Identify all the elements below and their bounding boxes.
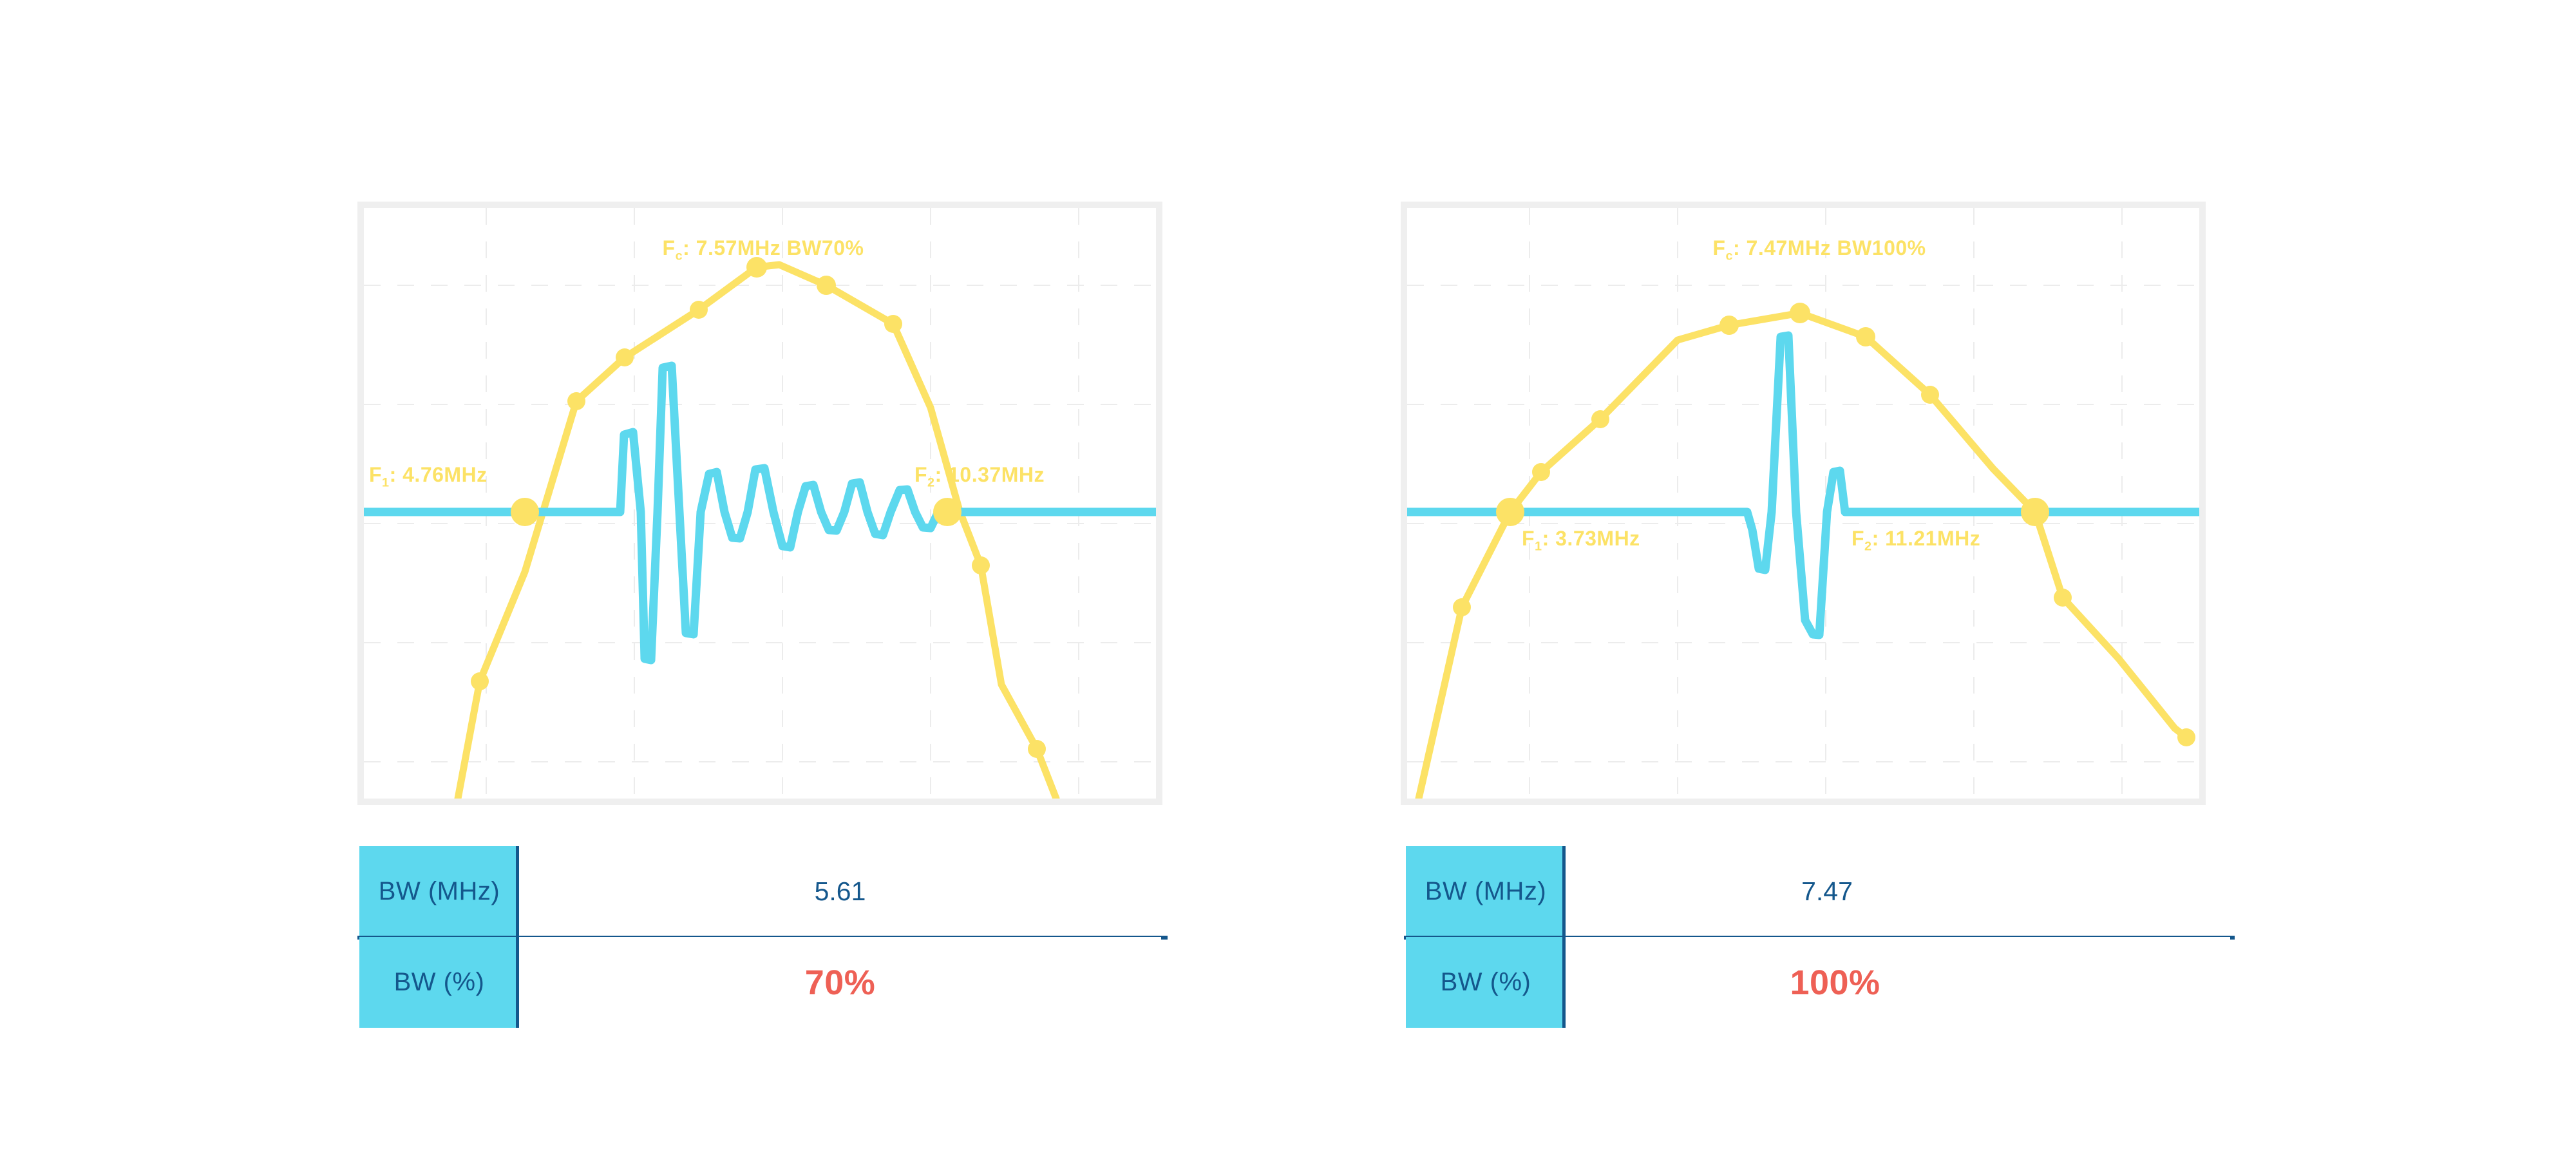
f1-subscript: 1 <box>382 475 390 489</box>
chart-plot-area-right: Fc: 7.47MHz BW100% F1: 3.73MHz F2: 11.21… <box>1407 208 2199 799</box>
table-value-text: 70% <box>805 963 876 1003</box>
pulse-echo-waveform <box>1407 336 2199 635</box>
table-value-text: 7.47 <box>1801 876 1853 907</box>
f2-annotation-right: F2: 11.21MHz <box>1851 527 1980 554</box>
grid-lines <box>364 208 1156 799</box>
f1-symbol: F <box>369 463 382 486</box>
table-row: BW (MHz) 5.61 <box>359 846 1161 937</box>
table-header-cell-bw-percent: BW (%) <box>1406 937 1566 1028</box>
f1-marker-dot <box>1496 498 1524 526</box>
chart-frame-left: Fc: 7.57MHz BW70% F1: 4.76MHz F2: 10.37M… <box>357 202 1162 805</box>
chart-frame-right: Fc: 7.47MHz BW100% F1: 3.73MHz F2: 11.21… <box>1401 202 2206 805</box>
spectrum-chart-right <box>1407 208 2199 799</box>
fc-value: : 7.57MHz BW70% <box>683 236 864 260</box>
f2-subscript: 2 <box>1864 539 1872 553</box>
f2-marker-dot <box>2021 498 2049 526</box>
f2-annotation-left: F2: 10.37MHz <box>914 463 1045 490</box>
table-row: BW (%) 100% <box>1406 937 2230 1028</box>
table-header-cell-bw-mhz: BW (MHz) <box>359 846 519 937</box>
f2-subscript: 2 <box>927 475 935 489</box>
table-row: BW (%) 70% <box>359 937 1161 1028</box>
table-header-label: BW (%) <box>1441 968 1531 997</box>
table-header-cell-bw-percent: BW (%) <box>359 937 519 1028</box>
bandwidth-table-right: BW (MHz) 7.47 BW (%) 100% <box>1406 846 2230 1028</box>
table-header-label: BW (MHz) <box>379 877 500 906</box>
f2-value: : 10.37MHz <box>935 463 1045 486</box>
fc-subscript: c <box>676 249 683 263</box>
f1-symbol: F <box>1522 527 1535 550</box>
chart-plot-area-left: Fc: 7.57MHz BW70% F1: 4.76MHz F2: 10.37M… <box>364 208 1156 799</box>
center-frequency-annotation-right: Fc: 7.47MHz BW100% <box>1594 236 2045 263</box>
f2-symbol: F <box>1851 527 1864 550</box>
bandwidth-table-left: BW (MHz) 5.61 BW (%) 70% <box>359 846 1161 1028</box>
table-value-cell-bw-percent: 100% <box>1566 937 2230 1028</box>
f1-value: : 4.76MHz <box>390 463 488 486</box>
f1-annotation-left: F1: 4.76MHz <box>369 463 488 490</box>
fc-subscript: c <box>1725 249 1733 263</box>
fc-symbol: F <box>1712 236 1725 260</box>
f1-value: : 3.73MHz <box>1542 527 1640 550</box>
table-value-cell-bw-mhz: 5.61 <box>519 846 1161 937</box>
table-value-text: 5.61 <box>815 876 866 907</box>
table-header-label: BW (%) <box>394 968 485 997</box>
f2-symbol: F <box>914 463 927 486</box>
table-value-text: 100% <box>1790 963 1880 1003</box>
f1-subscript: 1 <box>1535 539 1542 553</box>
table-header-cell-bw-mhz: BW (MHz) <box>1406 846 1566 937</box>
fc-value: : 7.47MHz BW100% <box>1733 236 1926 260</box>
f1-marker-dot <box>511 498 539 526</box>
f2-value: : 11.21MHz <box>1872 527 1981 550</box>
pulse-echo-waveform <box>364 366 1156 660</box>
grid-lines <box>1407 208 2199 799</box>
table-value-cell-bw-percent: 70% <box>519 937 1161 1028</box>
center-frequency-annotation-left: Fc: 7.57MHz BW70% <box>557 236 969 263</box>
f2-marker-dot <box>933 498 961 526</box>
table-value-cell-bw-mhz: 7.47 <box>1566 846 2230 937</box>
table-header-label: BW (MHz) <box>1425 877 1546 906</box>
spectrum-chart-left <box>364 208 1156 799</box>
f1-annotation-right: F1: 3.73MHz <box>1522 527 1640 554</box>
fc-symbol: F <box>663 236 676 260</box>
table-row: BW (MHz) 7.47 <box>1406 846 2230 937</box>
